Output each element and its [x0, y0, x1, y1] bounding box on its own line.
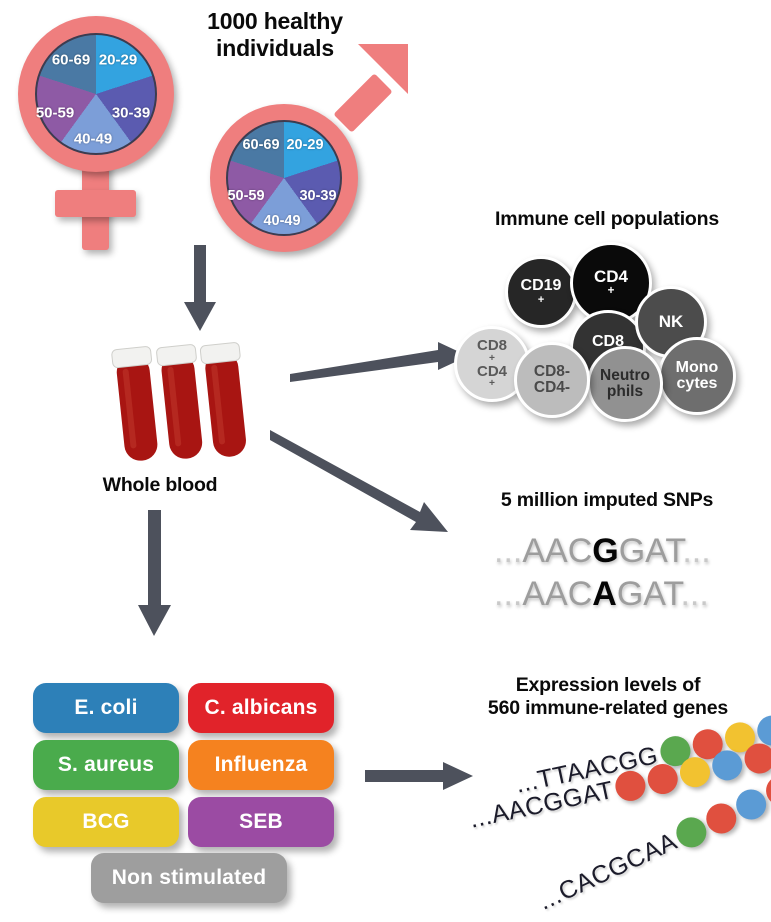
cell-nk-label: NK	[659, 313, 684, 330]
female-pie-label-20-29: 20-29	[99, 52, 137, 69]
expression-title: Expression levels of 560 immune-related …	[452, 674, 764, 720]
snp1-right: GAT	[619, 532, 683, 570]
stimulus-influenza-label: Influenza	[215, 753, 308, 777]
stimulus-bcg: BCG	[33, 797, 179, 847]
cell-monocytes-line2: cytes	[677, 376, 718, 392]
snps-title: 5 million imputed SNPs	[452, 489, 762, 512]
cell-cd8-pos-cd4-pos-line1: CD8+	[477, 338, 507, 364]
cell-neutrophils-line1: Neutro	[600, 368, 650, 384]
cell-cd4-label: CD4+	[594, 268, 628, 297]
stimulus-non-stimulated-label: Non stimulated	[112, 866, 266, 890]
arrow-blood-to-stimuli	[135, 510, 175, 640]
male-pie-label-20-29: 20-29	[286, 137, 323, 153]
blood-tubes-icon	[100, 338, 270, 468]
gene-bead	[742, 741, 771, 777]
snp1-left: AAC	[522, 532, 592, 570]
whole-blood-tubes	[100, 338, 270, 468]
snp2-prefix: ...	[494, 575, 522, 613]
stimulus-seb: SEB	[188, 797, 334, 847]
stimulus-influenza: Influenza	[188, 740, 334, 790]
stimulus-s-aureus-label: S. aureus	[58, 753, 154, 777]
male-pie-label-60-69: 60-69	[242, 137, 279, 153]
male-pie-label-30-39: 30-39	[299, 188, 336, 204]
stimulus-c-albicans: C. albicans	[188, 683, 334, 733]
gene-bead	[613, 768, 649, 804]
cell-cd8-pos-cd4-pos-line2: CD4+	[477, 364, 507, 390]
female-pie-label-60-69: 60-69	[52, 52, 90, 69]
snp2-left: AAC	[522, 575, 592, 613]
stimulus-s-aureus: S. aureus	[33, 740, 179, 790]
stimulus-seb-label: SEB	[239, 810, 283, 834]
stimulus-bcg-label: BCG	[82, 810, 129, 834]
gene-bead	[645, 761, 681, 797]
female-symbol: 20-29 30-39 40-49 50-59 60-69	[14, 12, 194, 242]
arrow-cohort-to-blood	[180, 245, 220, 335]
gene-bead	[677, 754, 713, 790]
snp2-variant: A	[592, 575, 617, 613]
male-pie-label-50-59: 50-59	[227, 188, 264, 204]
stimulus-e-coli: E. coli	[33, 683, 179, 733]
male-pie-label-40-49: 40-49	[263, 213, 300, 229]
gene-strand-3-sequence: ...CACGCAA	[534, 827, 682, 916]
expression-title-line1: Expression levels of	[452, 674, 764, 697]
snp1-suffix: ...	[682, 532, 710, 570]
gene-bead	[710, 747, 746, 783]
arrow-blood-to-snps	[270, 430, 460, 560]
cell-neutrophils-line2: phils	[607, 384, 643, 400]
cell-neutrophils: Neutro phils	[587, 346, 663, 422]
cell-cd19-label: CD19+	[521, 278, 562, 305]
male-symbol: 20-29 30-39 40-49 50-59 60-69	[208, 86, 420, 246]
arrow-blood-to-immune	[290, 330, 470, 390]
figure-canvas: 1000 healthy individuals 20-29 30-39 40-…	[0, 0, 771, 922]
female-pie-label-50-59: 50-59	[36, 105, 74, 122]
snp2-suffix: ...	[680, 575, 708, 613]
snp1-prefix: ...	[494, 532, 522, 570]
snp1-variant: G	[592, 532, 618, 570]
figure-title-line1: 1000 healthy	[170, 8, 380, 35]
whole-blood-label: Whole blood	[60, 474, 260, 497]
female-symbol-cross	[55, 190, 136, 217]
snp2-right: GAT	[617, 575, 681, 613]
snp-sequence-row-2: ...AACAGAT...	[494, 575, 709, 614]
stimulus-c-albicans-label: C. albicans	[204, 696, 317, 720]
cell-monocytes: Mono cytes	[658, 337, 736, 415]
stimulus-e-coli-label: E. coli	[74, 696, 137, 720]
cell-cd8-neg-cd4-neg: CD8- CD4-	[514, 342, 590, 418]
cell-cd8-neg-cd4-neg-line1: CD8-	[534, 364, 570, 380]
arrow-stimuli-to-expression	[365, 758, 485, 798]
stimulus-non-stimulated: Non stimulated	[91, 853, 287, 903]
immune-cell-cluster: CD8+ CD4+ CD19+ CD4+ CD8+ NK Mono cytes …	[452, 238, 762, 423]
cell-cd8-neg-cd4-neg-line2: CD4-	[534, 380, 570, 396]
cell-monocytes-line1: Mono	[676, 360, 719, 376]
expression-title-line2: 560 immune-related genes	[452, 697, 764, 720]
snp-sequence-row-1: ...AACGGAT...	[494, 532, 711, 571]
immune-populations-title: Immune cell populations	[452, 208, 762, 231]
female-pie-label-40-49: 40-49	[74, 131, 112, 148]
cell-cd19-positive: CD19+	[505, 256, 577, 328]
female-pie-label-30-39: 30-39	[112, 105, 150, 122]
